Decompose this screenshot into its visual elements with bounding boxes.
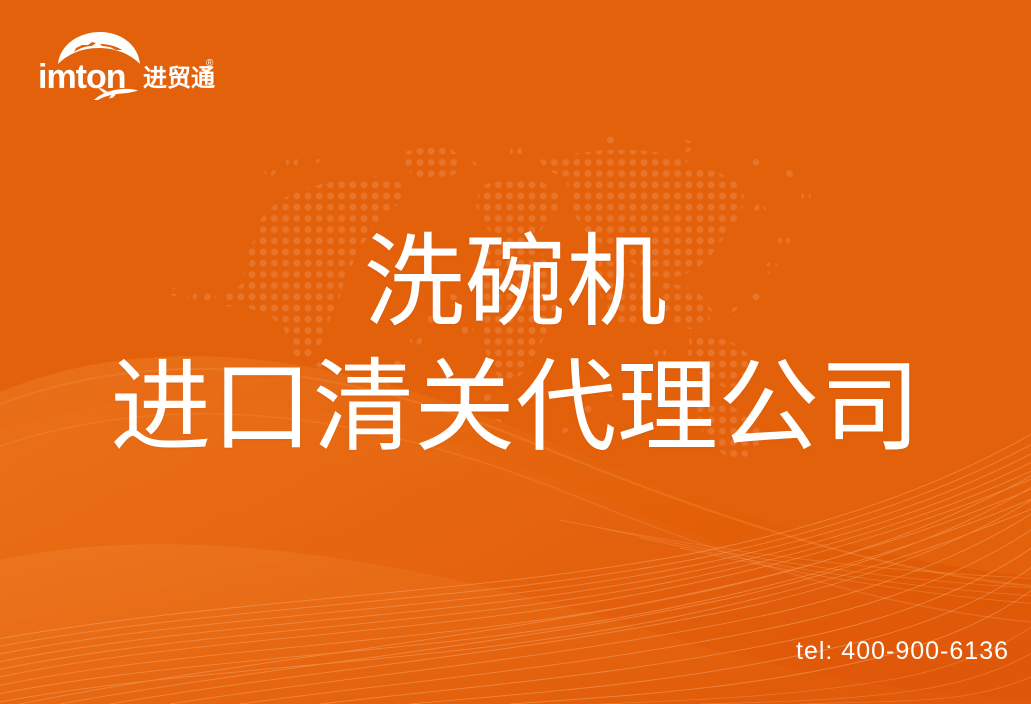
headline-line-1: 洗碗机 — [0, 222, 1031, 345]
logo-wordmark: imton — [38, 58, 126, 96]
brand-logo[interactable]: imton 进贸通 ® — [38, 30, 218, 104]
logo-chinese-name: 进贸通 — [143, 65, 215, 92]
telephone-label: tel: 400-900-6136 — [796, 637, 1009, 666]
headline: 洗碗机 进口清关代理公司 — [0, 222, 1031, 470]
poster-banner: imton 进贸通 ® 洗碗机 进口清关代理公司 tel: 400-900-61… — [0, 0, 1031, 704]
logo-trademark-symbol: ® — [206, 58, 214, 69]
headline-line-2: 进口清关代理公司 — [0, 347, 1031, 470]
